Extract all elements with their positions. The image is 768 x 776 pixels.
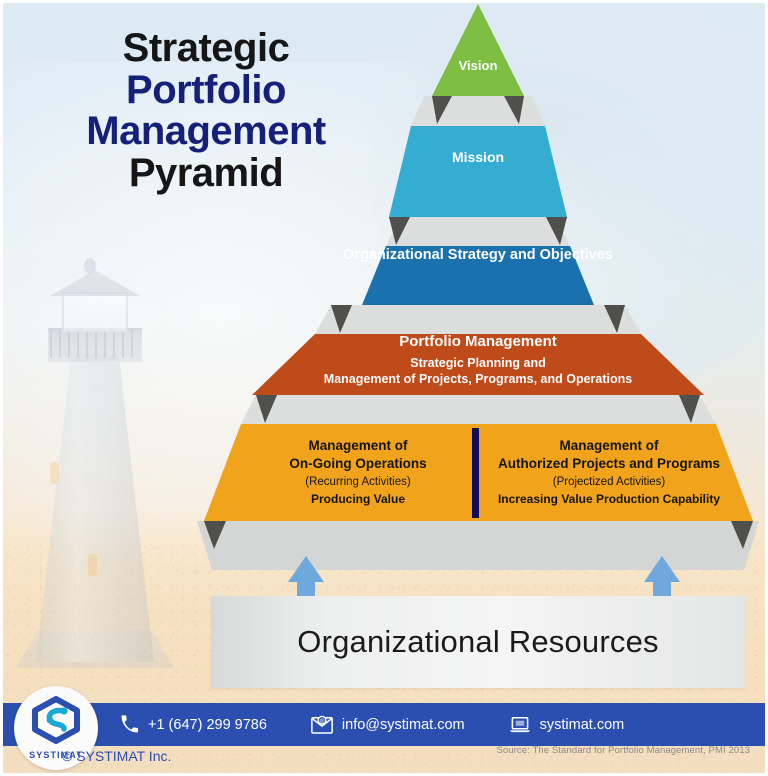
- phone-number: +1 (647) 299 9786: [148, 717, 267, 733]
- email-address: info@systimat.com: [342, 717, 465, 733]
- email-icon: @: [311, 715, 333, 734]
- step-band-2: [386, 217, 570, 246]
- step-band-1: [411, 96, 545, 126]
- laptop-icon: [509, 715, 531, 734]
- phone-icon: [120, 715, 139, 734]
- tier-shape-portfolio-management: [252, 334, 704, 395]
- tier-divider: [472, 428, 479, 518]
- tier-shape-vision: [432, 4, 524, 96]
- organizational-resources-label: Organizational Resources: [297, 624, 658, 660]
- footer-website[interactable]: systimat.com: [509, 715, 625, 734]
- step-band-4: [241, 395, 716, 424]
- infographic-canvas: Strategic Portfolio Management Pyramid: [0, 0, 768, 776]
- footer-phone[interactable]: +1 (647) 299 9786: [120, 715, 267, 734]
- svg-text:@: @: [319, 718, 324, 724]
- logo-mark-icon: [30, 696, 82, 749]
- copyright-notice: © SYSTIMAT Inc.: [62, 748, 171, 764]
- step-band-5: [197, 521, 759, 570]
- pyramid-diagram: [0, 0, 768, 600]
- tier-shape-mission: [389, 126, 567, 217]
- website-url: systimat.com: [540, 717, 625, 733]
- organizational-resources-box: Organizational Resources: [211, 596, 745, 688]
- step-band-3: [315, 305, 641, 334]
- footer-email[interactable]: @ info@systimat.com: [311, 715, 465, 734]
- source-citation: Source: The Standard for Portfolio Manag…: [496, 745, 750, 756]
- footer-contact-bar: +1 (647) 299 9786 @ info@systimat.com: [0, 703, 768, 746]
- tier-shape-strategy: [362, 246, 594, 305]
